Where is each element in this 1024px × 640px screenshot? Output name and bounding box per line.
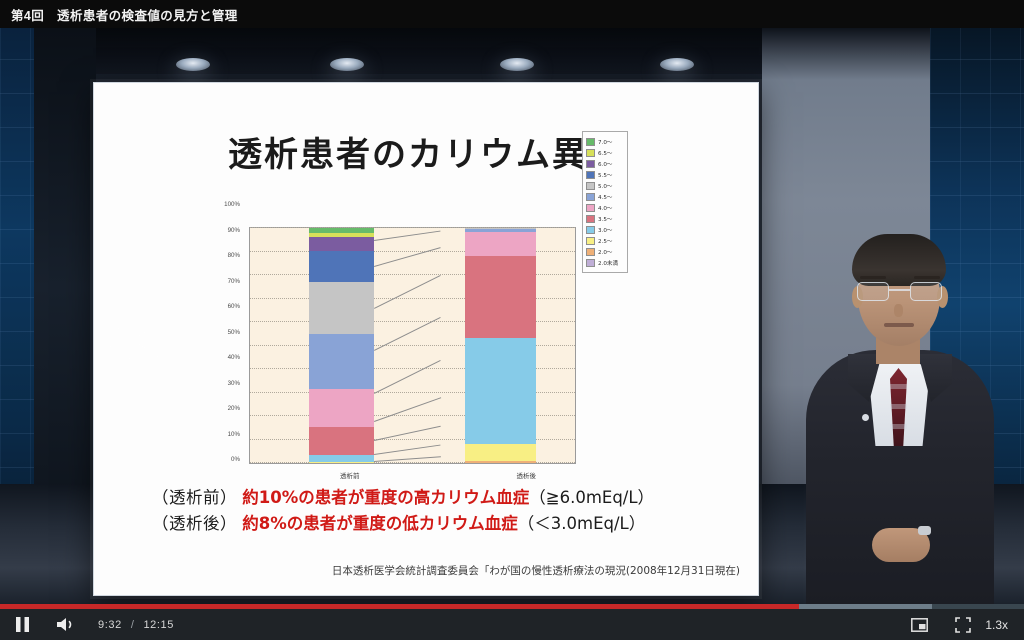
legend-swatch [586,182,595,190]
bar-segment [465,232,537,257]
video-stage[interactable]: 透析患者のカリウム異常 0%10%20%30%40%50%60%70%80%90… [0,28,1024,604]
bar-segment [465,461,537,463]
y-axis-tick: 50% [200,329,240,336]
legend-swatch [586,171,595,179]
legend-swatch [586,237,595,245]
time-display: 9:32 / 12:15 [98,619,174,631]
bar-透析後 [465,228,537,463]
note-term: 高カリウム血症 [414,488,530,507]
x-axis-label: 透析前 [314,470,386,480]
legend-item: 6.0〜 [586,158,624,169]
note-prefix: （透析前） [152,488,237,507]
leader-line [374,397,441,422]
y-axis-tick: 70% [200,278,240,285]
legend-label: 6.5〜 [598,149,613,157]
legend-item: 6.5〜 [586,147,624,158]
note-suffix: （＜3.0mEq/L） [518,514,645,533]
fullscreen-icon [955,617,971,633]
glasses-icon [857,282,889,301]
pause-icon [16,617,29,632]
legend-item: 2.0〜 [586,246,624,257]
legend-item: 4.5〜 [586,191,624,202]
title-bar: 第4回 透析患者の検査値の見方と管理 [0,0,1024,28]
legend-label: 2.0未満 [598,259,618,267]
bar-segment [465,256,537,338]
chart-plot-area [249,227,576,464]
bar-segment [465,444,537,460]
y-axis-tick: 90% [200,227,240,234]
legend-item: 5.0〜 [586,180,624,191]
note-line-before: （透析前） 約10%の患者が重度の高カリウム血症（≧6.0mEq/L） [152,485,712,511]
bar-segment [309,251,374,282]
bar-segment [309,237,374,251]
y-axis-tick: 60% [200,303,240,310]
wristwatch-icon [918,526,931,535]
chart-legend: 7.0〜6.5〜6.0〜5.5〜5.0〜4.5〜4.0〜3.5〜3.0〜2.5〜… [582,131,628,273]
tie-stripe [890,404,907,409]
tie-stripe [890,384,907,389]
picture-in-picture-icon [911,618,928,632]
legend-label: 2.5〜 [598,237,613,245]
glasses-icon [910,282,942,301]
tie-stripe [890,424,907,429]
studio-light [500,58,534,71]
legend-item: 2.0未満 [586,257,624,268]
legend-label: 2.0〜 [598,248,613,256]
slide-notes: （透析前） 約10%の患者が重度の高カリウム血症（≧6.0mEq/L） （透析後… [152,485,712,536]
y-axis-tick: 100% [200,201,240,208]
legend-item: 5.5〜 [586,169,624,180]
legend-item: 7.0〜 [586,136,624,147]
glasses-bridge [889,289,910,291]
bar-segment [309,462,374,463]
legend-label: 4.5〜 [598,193,613,201]
current-time: 9:32 [98,619,122,631]
legend-swatch [586,204,595,212]
bar-segment [309,455,374,462]
note-prefix: （透析後） [152,514,237,533]
legend-label: 5.5〜 [598,171,613,179]
pause-button[interactable] [0,609,44,640]
legend-label: 7.0〜 [598,138,613,146]
bar-segment [309,389,374,427]
projection-screen: 透析患者のカリウム異常 0%10%20%30%40%50%60%70%80%90… [93,82,759,596]
y-axis-tick: 0% [200,456,240,463]
bar-segment [309,334,374,389]
y-axis-tick: 80% [200,252,240,259]
legend-item: 2.5〜 [586,235,624,246]
time-separator: / [131,619,135,631]
y-axis-tick: 30% [200,380,240,387]
legend-label: 6.0〜 [598,160,613,168]
presenter-eyebrow [860,276,886,279]
bar-segment [465,338,537,444]
note-mid: の患者が重度の [287,514,403,533]
legend-item: 3.5〜 [586,213,624,224]
stacked-bar-chart: 0%10%20%30%40%50%60%70%80%90%100% 透析前透析後 [216,225,576,480]
note-percent: 約8% [242,514,287,533]
duration: 12:15 [143,619,174,631]
y-axis-tick: 20% [200,405,240,412]
y-axis-tick: 10% [200,431,240,438]
note-line-after: （透析後） 約8%の患者が重度の低カリウム血症（＜3.0mEq/L） [152,511,712,537]
legend-swatch [586,193,595,201]
presenter-nose [894,304,903,317]
legend-swatch [586,248,595,256]
studio-light [176,58,210,71]
player-controls: 9:32 / 12:15 1.3x [0,604,1024,640]
studio-light [660,58,694,71]
bar-透析前 [309,228,374,463]
legend-item: 4.0〜 [586,202,624,213]
presenter-eyebrow [914,276,940,279]
leader-line [374,275,441,309]
studio-light [330,58,364,71]
legend-swatch [586,160,595,168]
bar-segment [309,427,374,455]
video-player: 第4回 透析患者の検査値の見方と管理 [0,0,1024,640]
note-percent: 約10% [242,488,298,507]
legend-label: 5.0〜 [598,182,613,190]
legend-swatch [586,259,595,267]
note-term: 低カリウム血症 [402,514,518,533]
fullscreen-button[interactable] [941,609,985,640]
volume-button[interactable] [44,609,88,640]
legend-swatch [586,215,595,223]
legend-swatch [586,149,595,157]
legend-swatch [586,226,595,234]
slide-source-citation: 日本透析医学会統計調査委員会「わが国の慢性透析療法の現況(2008年12月31日… [94,563,740,578]
y-axis-tick: 40% [200,354,240,361]
leader-line [374,359,441,393]
picture-in-picture-button[interactable] [897,609,941,640]
leader-line [374,444,441,454]
lapel-microphone-icon [862,414,869,421]
x-axis-label: 透析後 [487,470,566,480]
slide-title: 透析患者のカリウム異常 [94,127,758,176]
rewind-icon[interactable] [100,318,166,362]
leader-line [374,230,441,240]
legend-label: 3.0〜 [598,226,613,234]
playback-speed-label[interactable]: 1.3x [985,618,1008,632]
leader-line [374,317,441,351]
presenter-figure [800,228,1000,604]
leader-line [374,456,441,462]
note-suffix: （≧6.0mEq/L） [529,488,654,507]
legend-label: 3.5〜 [598,215,613,223]
bar-segment [309,282,374,334]
volume-icon [57,617,76,632]
legend-swatch [586,138,595,146]
legend-label: 4.0〜 [598,204,613,212]
note-mid: の患者が重度の [298,488,414,507]
presenter-mouth [884,323,914,327]
legend-item: 3.0〜 [586,224,624,235]
lecture-title: 第4回 透析患者の検査値の見方と管理 [0,5,238,24]
